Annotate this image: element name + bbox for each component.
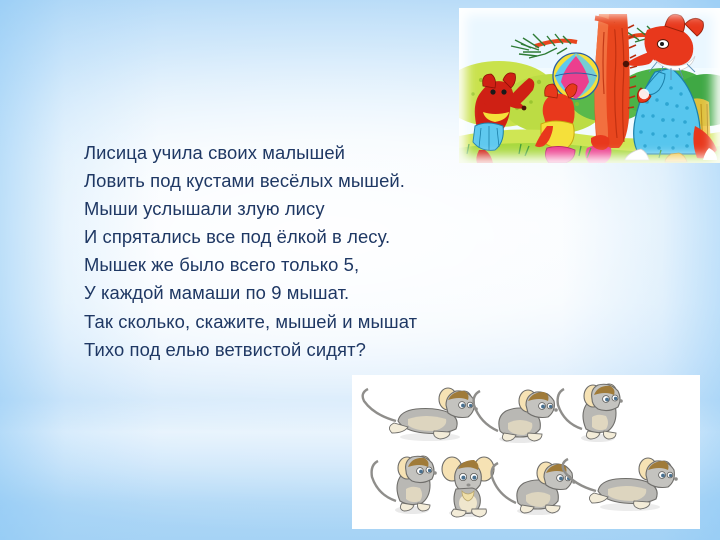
seven-cartoon-mice-illustration — [352, 375, 700, 529]
poem-line-6: У каждой мамаши по 9 мышат. — [84, 279, 484, 307]
poem-line-5: Мышек же было всего только 5, — [84, 251, 484, 279]
poem-line-7: Так сколько, скажите, мышей и мышат — [84, 308, 484, 336]
poem-text-block: Лисица учила своих малышей Ловить под ку… — [84, 139, 484, 364]
poem-line-4: И спрятались все под ёлкой в лесу. — [84, 223, 484, 251]
slide-canvas: Лисица учила своих малышей Ловить под ку… — [0, 0, 720, 540]
poem-line-2: Ловить под кустами весёлых мышей. — [84, 167, 484, 195]
fox-teaching-cubs-illustration — [459, 8, 720, 163]
poem-line-3: Мыши услышали злую лису — [84, 195, 484, 223]
mice-illustration-svg — [352, 375, 700, 529]
fox-illustration-svg — [459, 8, 720, 163]
poem-line-8: Тихо под елью ветвистой сидят? — [84, 336, 484, 364]
poem-line-1: Лисица учила своих малышей — [84, 139, 484, 167]
